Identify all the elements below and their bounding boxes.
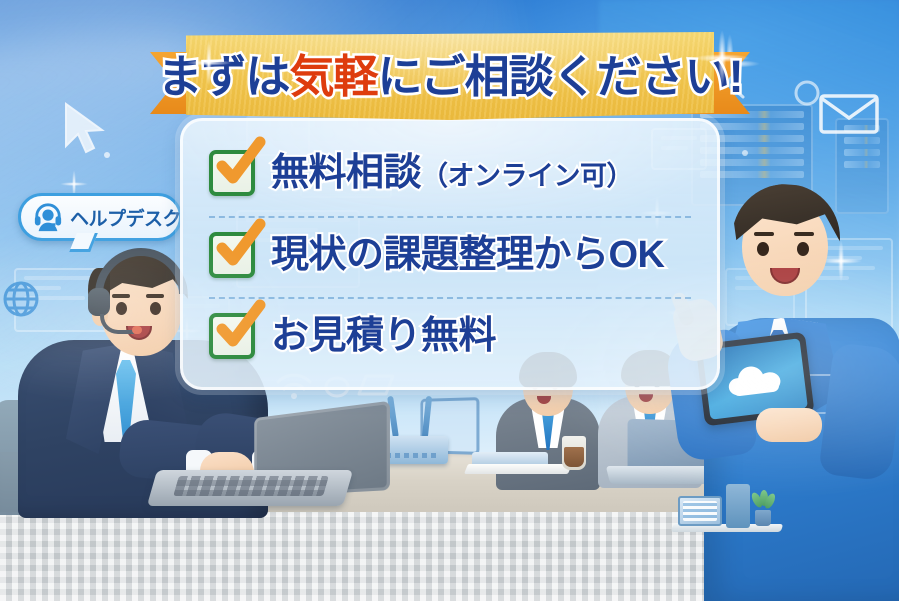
operator-eye (150, 302, 161, 315)
benefits-card: 無料相談（オンライン可） 現状の課題整理からOK お見積り無料 (180, 118, 720, 390)
checked-checkbox-icon[interactable] (209, 232, 255, 278)
globe-icon (0, 278, 42, 320)
benefit-row[interactable]: 無料相談（オンライン可） (209, 135, 691, 211)
mini-pc-tower-icon (726, 484, 750, 528)
benefit-label: 無料相談（オンライン可） (271, 154, 633, 192)
operator-eyebrow (146, 294, 164, 298)
sparkle-dot (742, 150, 748, 156)
headset-mic-tip-icon (132, 326, 142, 334)
engineer-hand-holding-tablet (756, 408, 822, 442)
engineer-eyebrow (794, 232, 814, 236)
help-desk-badge-label: ヘルプデスク (70, 204, 181, 231)
benefit-label: お見積り無料 (271, 317, 496, 355)
cloud-icon (726, 361, 783, 397)
headset-operator-icon (33, 202, 63, 232)
sparkle-dot (104, 152, 110, 158)
help-desk-badge[interactable]: ヘルプデスク (18, 193, 182, 241)
mini-plant-icon (752, 490, 774, 526)
node-circle-icon (792, 78, 822, 108)
headset-earcup-icon (88, 288, 110, 316)
headline-text: まずは気軽にご相談ください! (150, 40, 750, 105)
promo-banner-image: ヘルプデスク 無料相談（オンライン可） 現状の課題整理からOK お見積り無料 (0, 0, 899, 601)
benefit-label: 現状の課題整理からOK (271, 236, 665, 274)
headline-ribbon: まずは気軽にご相談ください! (150, 30, 750, 122)
engineer-eyebrow (754, 232, 774, 236)
desk-papers (464, 464, 572, 474)
benefit-row[interactable]: 現状の課題整理からOK (209, 216, 691, 292)
checked-checkbox-icon[interactable] (209, 313, 255, 359)
laptop-keyboard (173, 476, 329, 496)
cursor-arrow-icon (60, 100, 108, 156)
operator-eyebrow (112, 294, 130, 298)
envelope-icon (818, 92, 880, 136)
benefit-row[interactable]: お見積り無料 (209, 297, 691, 373)
mini-laptop-icon (678, 496, 722, 526)
checked-checkbox-icon[interactable] (209, 150, 255, 196)
engineer-eye (757, 242, 769, 256)
engineer-eye (797, 242, 809, 256)
coffee-cup (562, 436, 586, 470)
